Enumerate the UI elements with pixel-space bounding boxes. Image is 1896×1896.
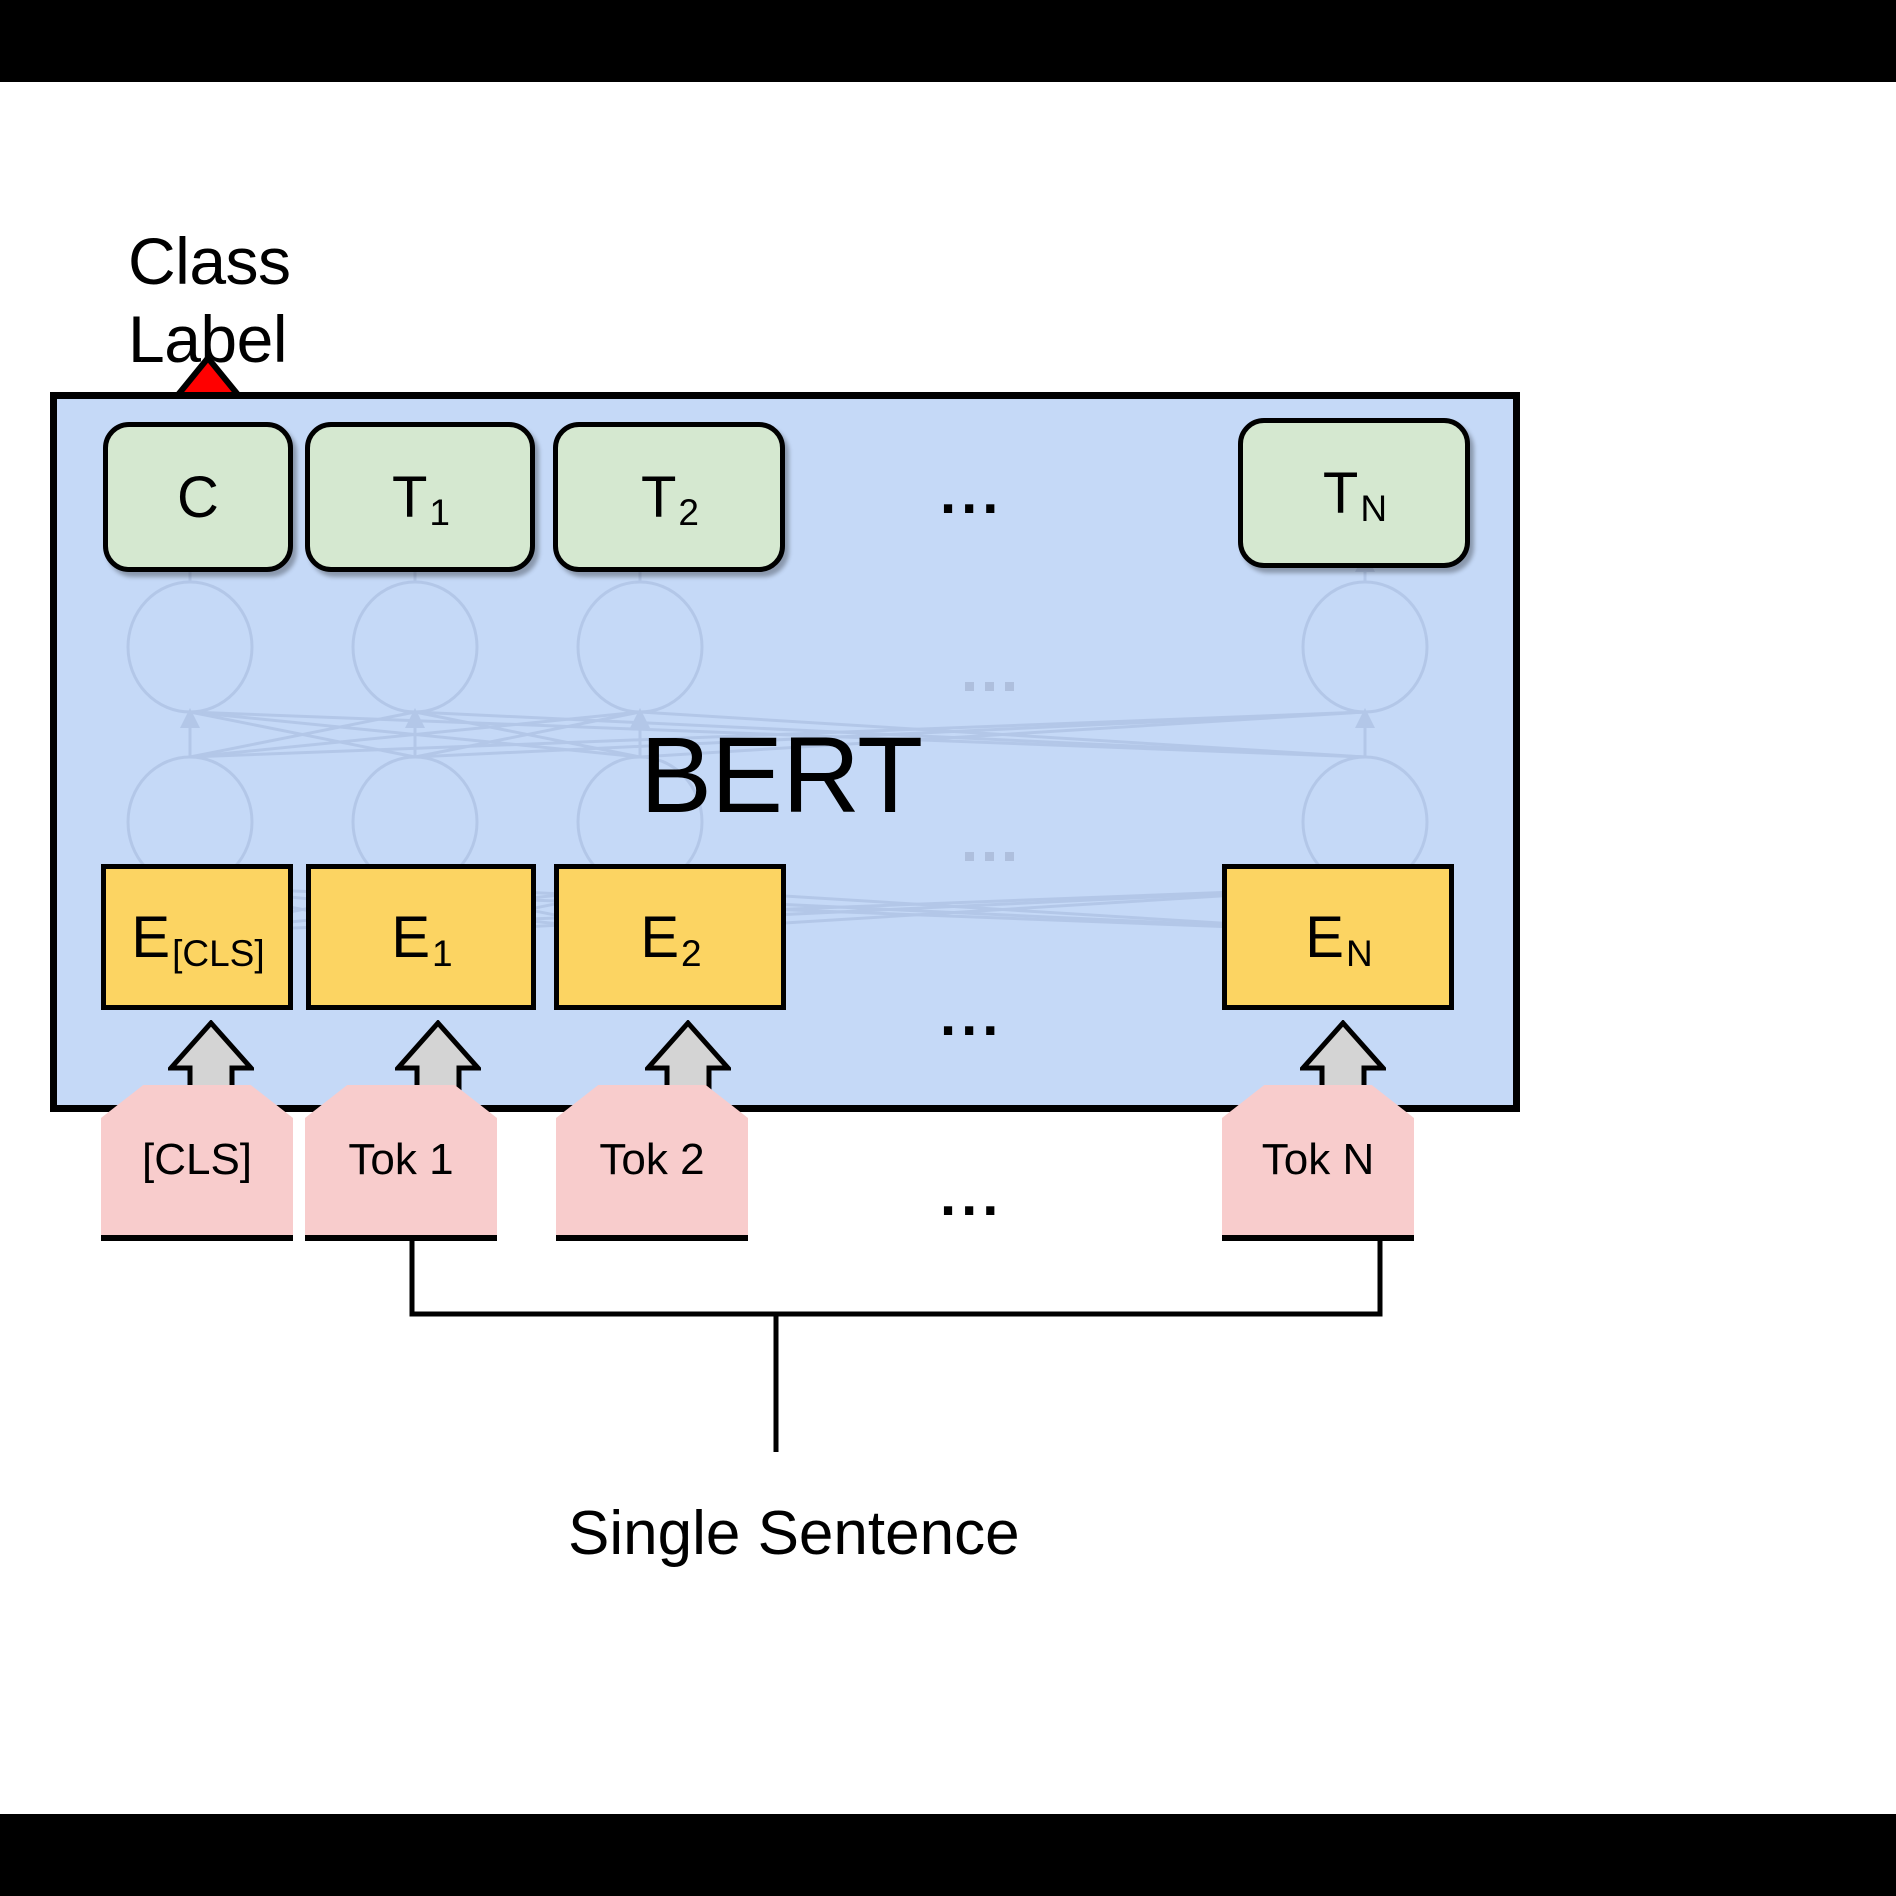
embedding-box-e2[interactable]: E2	[554, 864, 786, 1010]
input-token-box-tok2[interactable]: Tok 2	[556, 1085, 748, 1235]
input-token-face: [CLS]	[101, 1085, 293, 1235]
embedding-box-en[interactable]: EN	[1222, 864, 1454, 1010]
embedding-label: E	[640, 904, 679, 971]
output-token-box-t1[interactable]: T1	[305, 422, 535, 572]
output-token-subscript: 2	[678, 492, 699, 534]
embedding-row-ellipsis: ...	[940, 982, 1003, 1049]
embedding-subscript: [CLS]	[172, 933, 265, 975]
diagram-stage: Class Label	[0, 0, 1896, 1896]
bert-model-label: BERT	[640, 712, 922, 837]
output-token-label: T	[1323, 460, 1358, 527]
input-token-box-cls[interactable]: [CLS]	[101, 1085, 293, 1235]
embedding-box-e1[interactable]: E1	[306, 864, 536, 1010]
embedding-subscript: N	[1346, 933, 1373, 975]
input-token-face: Tok 1	[305, 1085, 497, 1235]
input-token-face: Tok N	[1222, 1085, 1414, 1235]
output-token-box-tn[interactable]: TN	[1238, 418, 1470, 568]
output-token-label: C	[177, 464, 219, 531]
embedding-label: E	[1305, 904, 1344, 971]
input-token-label: [CLS]	[142, 1135, 252, 1185]
embedding-subscript: 2	[681, 933, 702, 975]
embedding-label: E	[131, 904, 170, 971]
input-token-label: Tok N	[1262, 1135, 1374, 1185]
output-token-label: T	[641, 464, 676, 531]
input-row-ellipsis: ...	[940, 1162, 1003, 1229]
output-row-ellipsis: ...	[940, 460, 1003, 527]
output-token-box-c[interactable]: C	[103, 422, 293, 572]
output-token-subscript: N	[1360, 488, 1387, 530]
embedding-box-cls[interactable]: E[CLS]	[101, 864, 293, 1010]
sentence-bracket	[380, 1232, 1410, 1492]
input-token-label: Tok 1	[348, 1135, 453, 1185]
embedding-label: E	[391, 904, 430, 971]
output-token-subscript: 1	[429, 492, 450, 534]
input-token-box-tok1[interactable]: Tok 1	[305, 1085, 497, 1235]
output-token-box-t2[interactable]: T2	[553, 422, 785, 572]
diagram-canvas: Class Label	[0, 82, 1896, 1814]
embedding-subscript: 1	[432, 933, 453, 975]
input-token-label: Tok 2	[599, 1135, 704, 1185]
input-token-face: Tok 2	[556, 1085, 748, 1235]
input-caption-text: Single Sentence	[568, 1498, 1020, 1569]
output-token-label: T	[392, 464, 427, 531]
input-token-box-tokn[interactable]: Tok N	[1222, 1085, 1414, 1235]
